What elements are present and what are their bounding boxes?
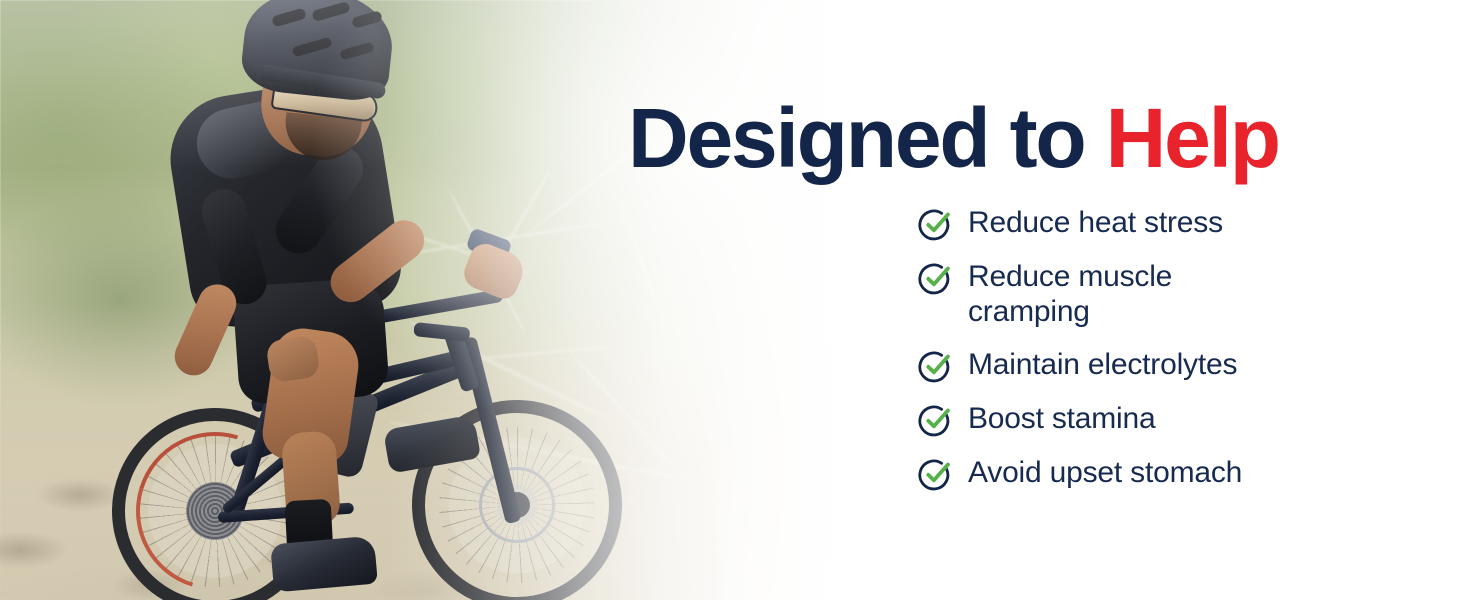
benefit-label: Maintain electrolytes: [968, 348, 1237, 383]
check-circle-icon: [918, 261, 953, 296]
headline-part-one: Designed to: [628, 91, 1106, 185]
rider-left-forearm: [169, 278, 243, 381]
list-item: Reduce heat stress: [918, 206, 1318, 242]
list-item: Boost stamina: [918, 402, 1318, 438]
designed-to-help-banner: Designed to Help Reduce heat stress Redu…: [0, 0, 1464, 600]
check-circle-icon: [918, 207, 953, 242]
benefit-label: Reduce muscle cramping: [968, 260, 1298, 330]
benefits-list: Reduce heat stress Reduce muscle crampin…: [918, 206, 1318, 492]
list-item: Avoid upset stomach: [918, 456, 1318, 492]
headline-part-two: Help: [1106, 91, 1279, 185]
benefit-label: Avoid upset stomach: [968, 456, 1242, 491]
check-circle-icon: [918, 457, 953, 492]
check-circle-icon: [918, 403, 953, 438]
list-item: Maintain electrolytes: [918, 348, 1318, 384]
bike-stem: [413, 322, 470, 342]
page-title: Designed to Help: [628, 96, 1279, 180]
banner-content: Designed to Help Reduce heat stress Redu…: [628, 0, 1328, 600]
benefit-label: Boost stamina: [968, 402, 1156, 437]
rider-left-shoe: [270, 536, 378, 593]
benefit-label: Reduce heat stress: [968, 206, 1223, 241]
list-item: Reduce muscle cramping: [918, 260, 1318, 330]
check-circle-icon: [918, 349, 953, 384]
